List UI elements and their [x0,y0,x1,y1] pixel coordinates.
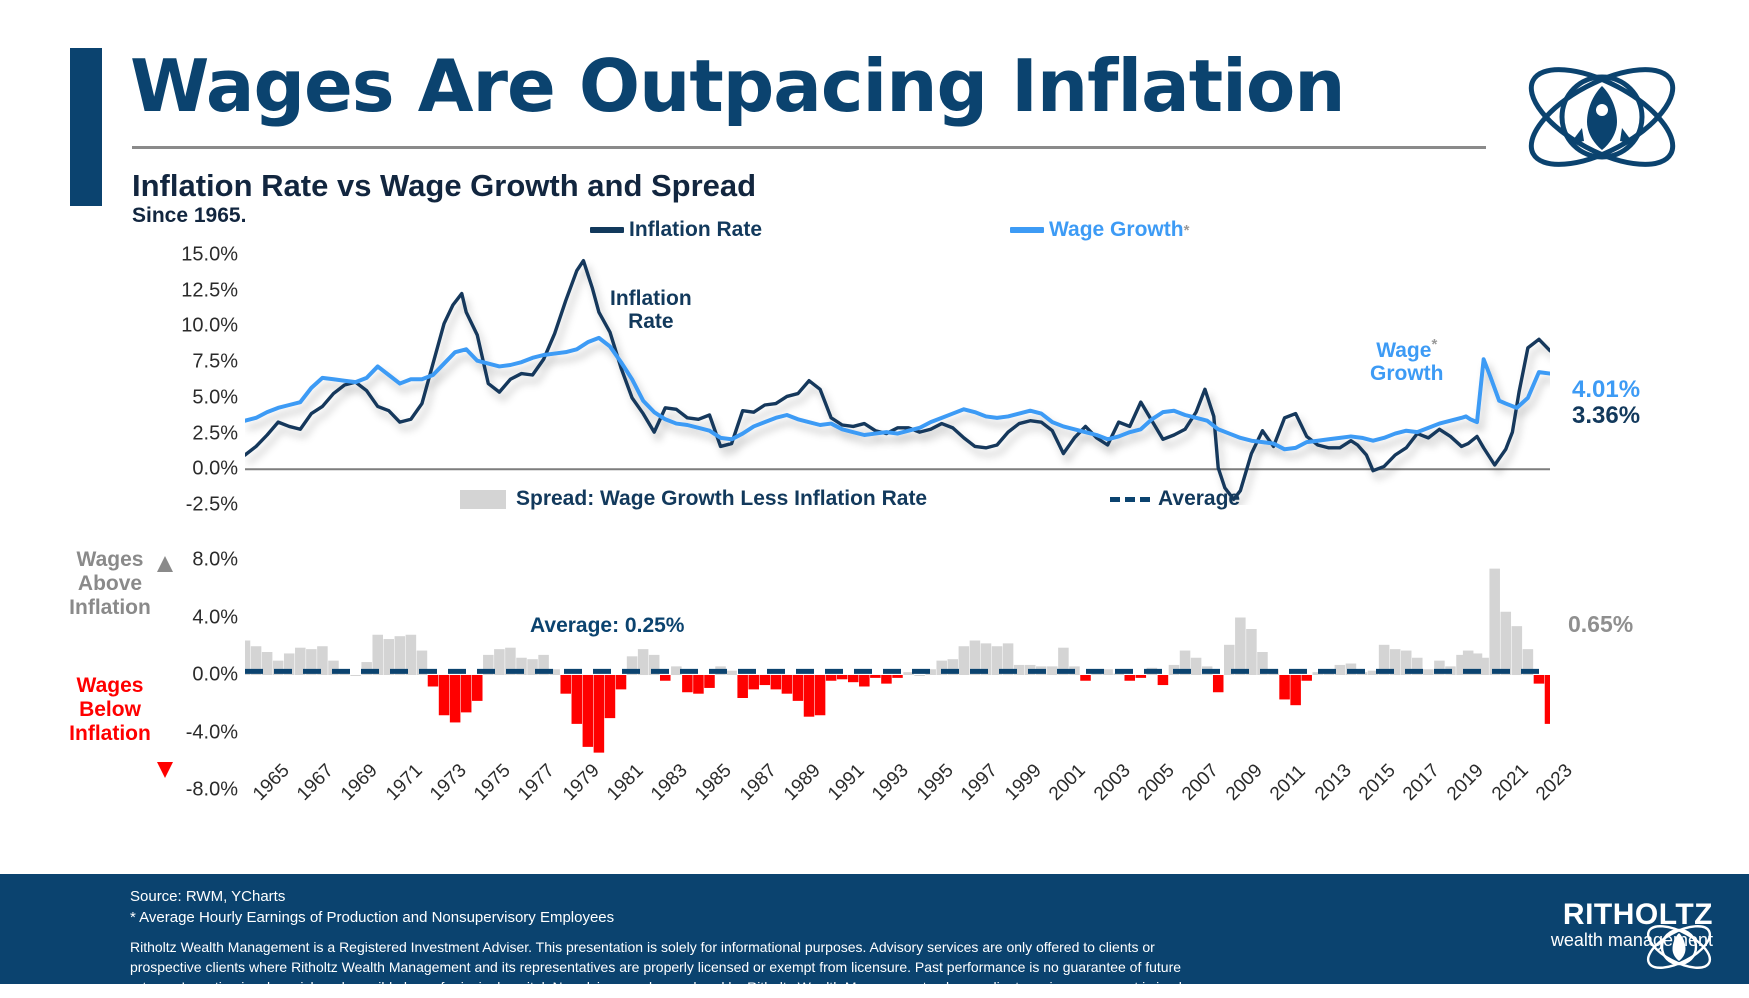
inflation-wage-chart: 15.0%12.5%10.0%7.5%5.0%2.5%0.0%-2.5% Inf… [0,255,1749,505]
spread-bar [472,675,483,701]
spread-bar [826,675,837,681]
wage-line-swatch [1010,227,1044,233]
legend-label-spread: Spread: Wage Growth Less Inflation Rate [516,487,927,511]
y-tick-bottom: -4.0% [186,721,238,744]
ritholtz-globe-icon [1512,42,1692,192]
spread-bar [870,675,881,678]
spread-bar [760,675,771,685]
spread-bar [682,675,693,692]
title-divider [132,146,1486,149]
footer-footnote: * Average Hourly Earnings of Production … [130,909,614,926]
y-tick-top: 15.0% [181,244,238,267]
spread-bar [461,675,472,712]
wage-end-value-label: 4.01% [1572,377,1640,403]
y-tick-bottom: 0.0% [192,664,238,687]
x-axis: 1965196719691971197319751977197919811983… [245,790,1550,870]
spread-bar [793,675,804,701]
y-axis-top: 15.0%12.5%10.0%7.5%5.0%2.5%0.0%-2.5% [150,255,238,505]
legend-label-average: Average [1158,487,1240,511]
annotation-inflation-line2: Rate [610,311,692,334]
spread-bar [572,675,583,724]
spread-bar [1545,675,1550,724]
spread-bar [1423,669,1434,675]
y-tick-top: 10.0% [181,315,238,338]
annotation-wage-line2: Growth [1370,363,1444,386]
legend-label-wage-growth: Wage Growth [1049,218,1184,242]
spread-bar [782,675,793,694]
spread-plot [245,560,1550,790]
spread-bar [660,675,671,681]
spread-bar [428,675,439,687]
y-tick-top: 2.5% [192,422,238,445]
spread-bar [1136,675,1147,678]
y-tick-top: 7.5% [192,351,238,374]
annotation-wage-star: * [1431,336,1437,353]
y-tick-top: 0.0% [192,458,238,481]
spread-bar [560,675,571,694]
legend-top: Inflation Rate Wage Growth * [0,218,1749,252]
spread-bar [914,675,925,676]
spread-bar [616,675,627,689]
annotation-wage-growth: Wage* Growth [1370,337,1444,385]
page-title: Wages Are Outpacing Inflation [130,44,1345,128]
spread-bar-swatch [460,490,506,509]
spread-bar [583,675,594,747]
legend-item-spread[interactable]: Spread: Wage Growth Less Inflation Rate [460,487,927,511]
legend-item-average[interactable]: Average [1110,487,1240,511]
spread-bar [837,675,848,679]
y-tick-bottom: -8.0% [186,779,238,802]
y-tick-top: 12.5% [181,279,238,302]
spread-bar [859,675,870,687]
spread-bar [1301,675,1312,681]
legend-wage-footnote-star: * [1184,222,1190,239]
spread-bar [892,675,903,678]
spread-bar [262,652,273,675]
spread-bar [1335,665,1346,675]
spread-bar [605,675,616,718]
spread-bar [1080,675,1091,681]
spread-bar [1290,675,1301,705]
spread-bar [1279,675,1290,699]
annotation-inflation-rate: Inflation Rate [610,288,692,333]
spread-bar [1235,618,1246,676]
spread-bar [815,675,826,715]
spread-bar [726,671,737,675]
spread-bar [1512,626,1523,675]
legend-bottom: Spread: Wage Growth Less Inflation Rate … [0,487,1749,521]
y-tick-bottom: 8.0% [192,549,238,572]
spread-bar [1191,658,1202,675]
legend-item-wage-growth[interactable]: Wage Growth * [1010,218,1189,242]
spread-bar [1246,629,1257,675]
inflation-end-value-label: 3.36% [1572,403,1640,429]
spread-bar [771,675,782,689]
inflation-line-swatch [590,227,624,233]
spread-bar [1501,612,1512,675]
spread-bar [1213,675,1224,692]
annotation-wage-line1: Wage* [1370,337,1444,363]
spread-bar [748,675,759,689]
spread-chart: 8.0%4.0%0.0%-4.0%-8.0% Average: 0.25% 0.… [0,560,1749,790]
average-dash-swatch [1110,497,1150,502]
y-axis-bottom: 8.0%4.0%0.0%-4.0%-8.0% [150,560,238,790]
spread-bar [494,649,505,675]
spread-bar [848,675,859,682]
spread-bar [693,675,704,694]
page-footer: Source: RWM, YCharts * Average Hourly Ea… [0,874,1749,984]
spread-bar [450,675,461,722]
spread-bar [881,675,892,684]
footer-source: Source: RWM, YCharts [130,888,285,905]
brand-block: RITHOLTZ wealth management [1551,898,1713,951]
page-header: Wages Are Outpacing Inflation Inflation … [0,0,1749,240]
spread-bar [1489,569,1500,675]
spread-bars [245,569,1550,753]
spread-bar [959,646,970,675]
spread-bar [350,675,361,676]
y-tick-top: 5.0% [192,386,238,409]
inflation-wage-plot [245,255,1550,505]
spread-bar [1047,666,1058,675]
spread-bar [594,675,605,753]
spread-bar [1534,675,1545,684]
page-subtitle: Inflation Rate vs Wage Growth and Spread [132,168,756,204]
spread-end-value-label: 0.65% [1568,612,1633,637]
legend-item-inflation[interactable]: Inflation Rate [590,218,762,242]
annotation-wage-text: Wage [1376,339,1431,362]
spread-bar [804,675,815,717]
average-value-label: Average: 0.25% [530,615,684,638]
y-tick-bottom: 4.0% [192,606,238,629]
legend-label-inflation: Inflation Rate [629,218,762,242]
ritholtz-globe-icon [1641,912,1717,982]
annotation-inflation-line1: Inflation [610,288,692,311]
footer-disclaimer: Ritholtz Wealth Management is a Register… [130,938,1210,998]
spread-bar [704,675,715,688]
spread-bar [737,675,748,698]
header-accent-bar [70,48,102,206]
spread-bar [1124,675,1135,681]
spread-bar [439,675,450,715]
spread-bar [1158,675,1169,685]
